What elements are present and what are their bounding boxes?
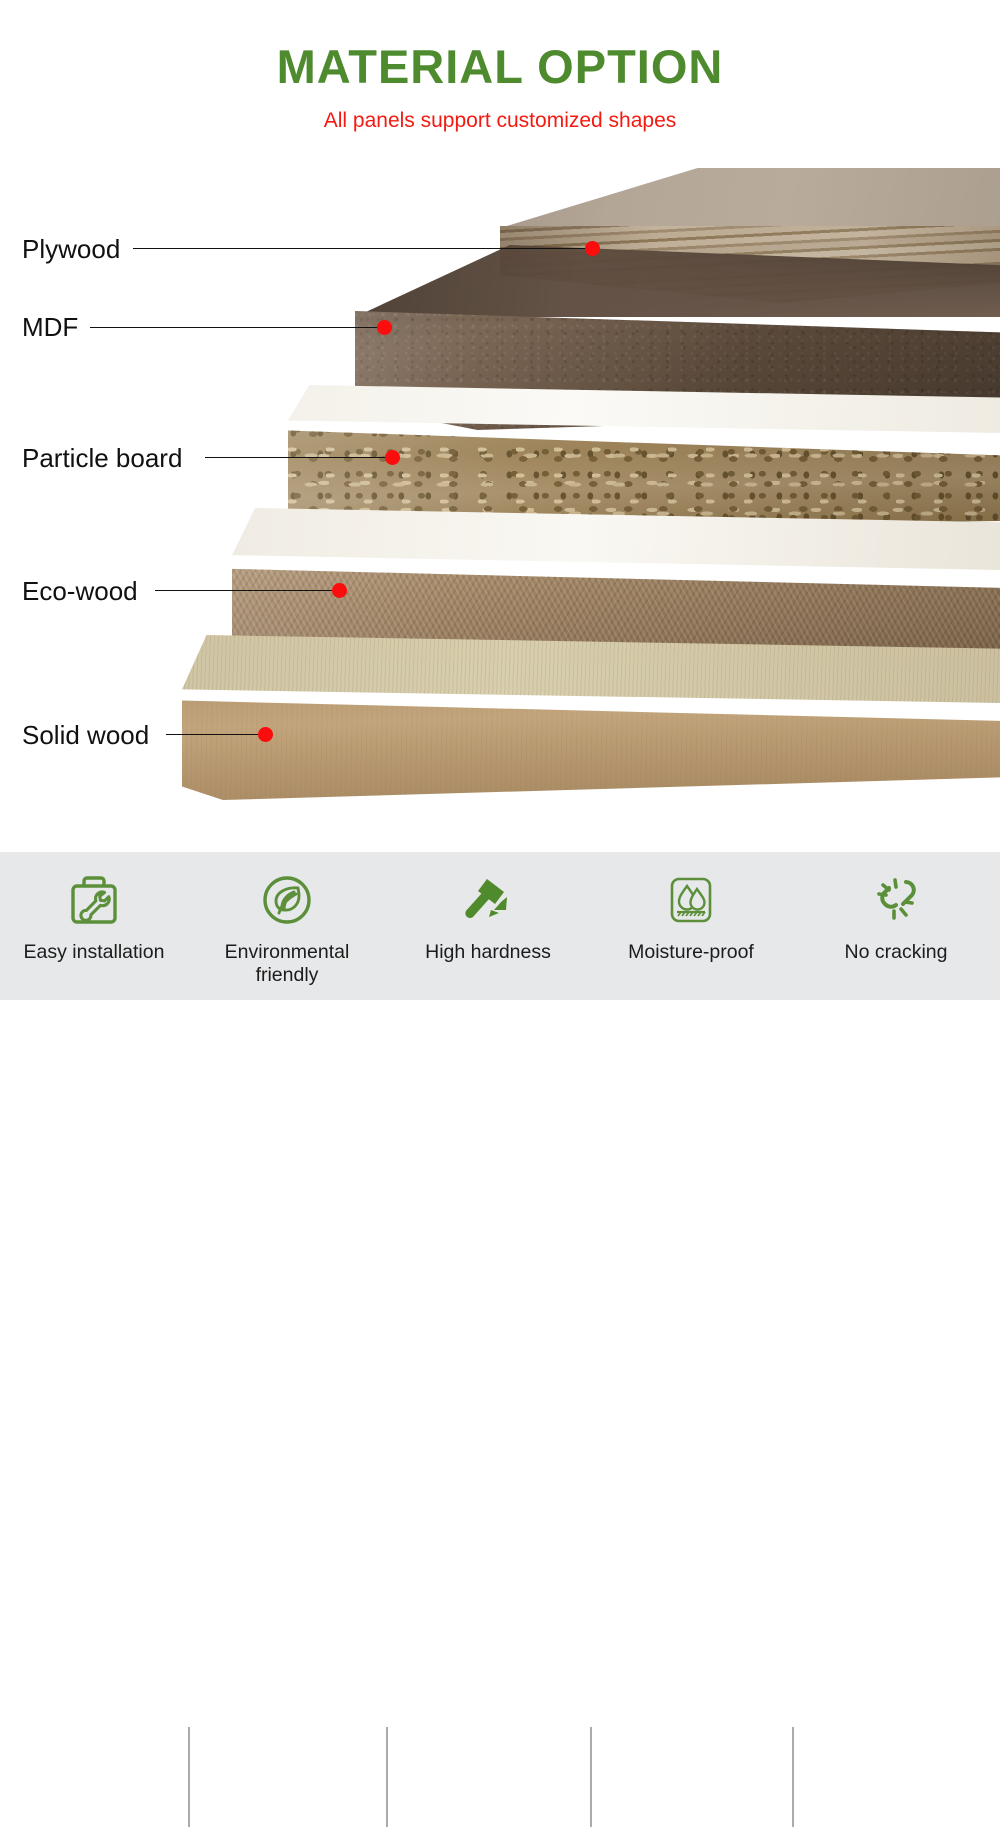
callout-line-solid-wood [166,734,268,735]
feature-divider-4 [792,1727,794,1827]
toolbox-wrench-icon [63,870,125,932]
crack-burst-icon [865,870,927,932]
material-stack-illustration: Plywood MDF Particle board Eco-wood Soli… [0,150,1000,852]
feature-bar: Easy installation Environmental friendly… [0,852,1000,1000]
feature-item-high-hardness[interactable]: High hardness [386,852,590,1000]
callout-label-plywood: Plywood [22,236,120,262]
eco-wood-laminate-top [232,508,1000,570]
feature-label-easy-installation: Easy installation [24,941,165,964]
callout-label-mdf: MDF [22,314,78,340]
particle-board-laminate-top [288,385,1000,433]
callout-dot-eco-wood [332,583,347,598]
callout-line-eco-wood [155,590,340,591]
water-droplets-icon [660,870,722,932]
callout-dot-mdf [377,320,392,335]
leaf-circle-icon [256,870,318,932]
callout-dot-plywood [585,241,600,256]
callout-line-mdf [90,327,384,328]
callout-line-particle-board [205,457,392,458]
callout-dot-solid-wood [258,727,273,742]
feature-label-moisture-proof: Moisture-proof [628,941,754,964]
feature-item-moisture-proof[interactable]: Moisture-proof [590,852,792,1000]
header: MATERIAL OPTION All panels support custo… [0,0,1000,150]
callout-line-plywood [133,248,592,249]
feature-divider-1 [188,1727,190,1827]
callout-label-particle-board: Particle board [22,445,182,471]
mdf-top-face [355,245,1000,317]
callout-label-solid-wood: Solid wood [22,722,149,748]
plywood-top-face [500,168,1000,228]
callout-dot-particle-board [385,450,400,465]
solid-wood-top-face [182,635,1000,703]
solid-wood-panel [182,635,1000,800]
page-title: MATERIAL OPTION [0,0,1000,90]
callout-label-eco-wood: Eco-wood [22,578,138,604]
feature-label-high-hardness: High hardness [425,941,551,964]
feature-label-no-cracking: No cracking [845,941,948,964]
feature-divider-2 [386,1727,388,1827]
feature-item-easy-installation[interactable]: Easy installation [0,852,188,1000]
feature-label-environmental-friendly: Environmental friendly [225,941,350,986]
page-subtitle: All panels support customized shapes [0,90,1000,131]
feature-divider-3 [590,1727,592,1827]
hammer-icon [457,870,519,932]
feature-item-environmental-friendly[interactable]: Environmental friendly [188,852,386,1000]
feature-item-no-cracking[interactable]: No cracking [792,852,1000,1000]
solid-wood-grain-edge [182,687,1000,800]
